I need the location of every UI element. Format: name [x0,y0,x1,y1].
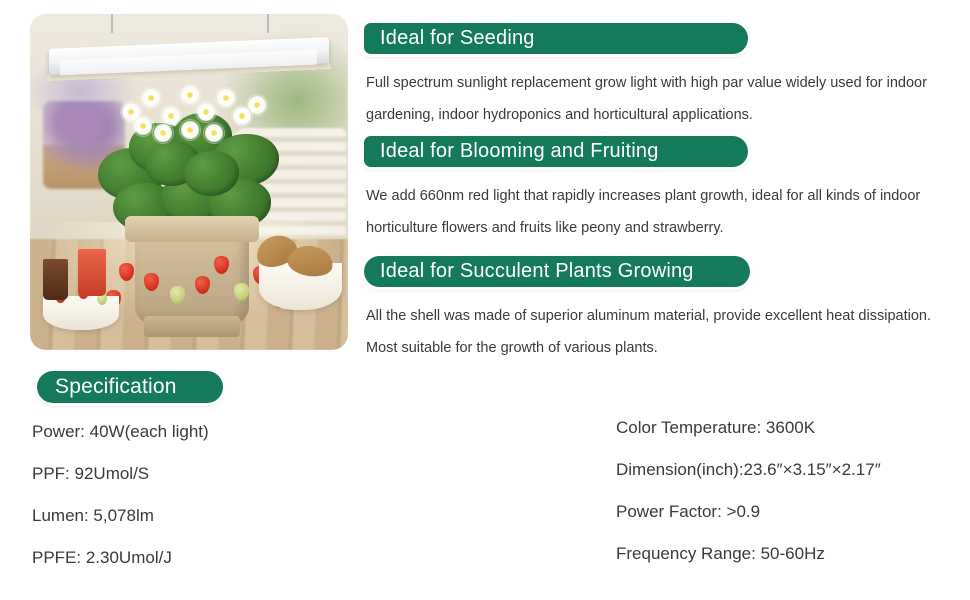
feature-body-succulent: All the shell was made of superior alumi… [366,300,946,364]
feature-heading-label: Ideal for Seeding [380,27,535,50]
spec-item-ppf: PPF: 92Umol/S [32,453,209,495]
growth-stage-sprout [214,518,310,600]
specification-heading: Specification [37,371,223,403]
specification-right-column: Color Temperature: 3600K Dimension(inch)… [616,407,881,575]
strawberry [234,283,249,301]
spec-item-frequency-range: Frequency Range: 50-60Hz [616,533,881,575]
feature-heading-blooming: Ideal for Blooming and Fruiting [364,136,748,167]
feature-heading-label: Ideal for Succulent Plants Growing [380,260,694,283]
specification-left-column: Power: 40W(each light) PPF: 92Umol/S Lum… [32,411,209,579]
growth-stage-young-plant [467,423,628,600]
product-photo [30,14,348,350]
growth-stage-seedling [342,484,458,600]
feature-heading-seeding: Ideal for Seeding [364,23,748,54]
spec-item-dimension: Dimension(inch):23.6″×3.15″×2.17″ [616,449,881,491]
drink-glass [43,259,68,299]
feature-body-blooming: We add 660nm red light that rapidly incr… [366,180,946,244]
feature-heading-label: Ideal for Blooming and Fruiting [380,140,659,163]
feature-body-seeding: Full spectrum sunlight replacement grow … [366,67,946,131]
juice-glass [78,249,107,296]
pot-rim [125,216,259,243]
spec-item-power: Power: 40W(each light) [32,411,209,453]
feature-heading-succulent: Ideal for Succulent Plants Growing [364,256,750,287]
grow-light-bar [49,31,329,88]
pot-base [144,316,239,336]
spec-item-color-temperature: Color Temperature: 3600K [616,407,881,449]
spec-item-lumen: Lumen: 5,078lm [32,495,209,537]
spec-item-ppfe: PPFE: 2.30Umol/J [32,537,209,579]
spec-item-power-factor: Power Factor: >0.9 [616,491,881,533]
strawberry-bowl [43,296,119,330]
specification-heading-label: Specification [55,375,177,399]
